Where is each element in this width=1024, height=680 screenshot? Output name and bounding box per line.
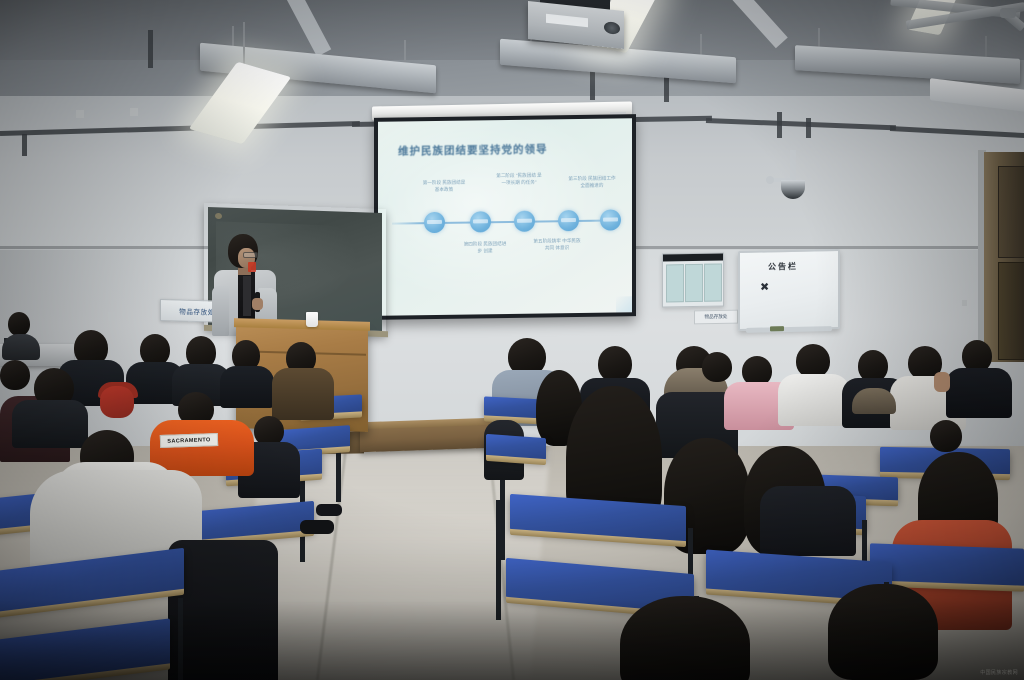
raised-hand (934, 372, 950, 392)
notice-panel (704, 263, 722, 301)
student-desk (870, 543, 1024, 586)
notice-caption-label: 物品存放处 (705, 314, 728, 320)
watermark: 中国民族宗教网 (980, 669, 1018, 676)
person-torso (220, 366, 274, 408)
person-torso (12, 400, 88, 448)
person-head (100, 386, 134, 418)
person-torso (946, 368, 1012, 418)
person-torso (778, 374, 850, 426)
slide-note: 第一阶段 民族团结是 基本政策 (422, 179, 466, 194)
jacket-text: SACRAMENTO (167, 437, 211, 445)
wall-outlet (108, 312, 115, 321)
camera-arm-knob (766, 176, 774, 184)
presenter-badge (248, 262, 256, 272)
slide-note: 第二阶段 "民族团结 是一项长期 的任务" (494, 171, 544, 186)
person-head (598, 346, 632, 382)
whiteboard-mark: ✖ (760, 280, 769, 293)
wall-outlet (76, 110, 84, 118)
ceiling-fan-hub (1000, 8, 1016, 18)
wall-outlet (962, 300, 967, 306)
person-head (8, 312, 30, 336)
whiteboard-title: 公告栏 (768, 261, 798, 273)
whiteboard-eraser[interactable] (770, 326, 784, 331)
person-head (702, 352, 732, 382)
presenter-arm-left (212, 286, 229, 336)
person-hair (828, 584, 938, 680)
notice-board (662, 252, 724, 307)
shoe (300, 520, 334, 534)
desk-leg (496, 500, 501, 620)
person-torso (2, 334, 40, 360)
person-torso (760, 486, 856, 556)
notice-board-caption: 物品存放处 (694, 310, 738, 325)
person-torso (168, 540, 278, 680)
person-head (796, 344, 830, 378)
desk-leg (178, 598, 183, 680)
slide-note: 第三阶段 民族团结工作 全面推进的 (568, 174, 616, 189)
door-panel[interactable] (998, 166, 1024, 258)
slide-title: 维护民族团结要坚持党的领导 (398, 141, 608, 159)
person-hair (620, 596, 750, 680)
jacket-text-patch: SACRAMENTO (160, 433, 218, 448)
person-head (0, 360, 30, 390)
sign-storage-label: 物品存放处 (179, 306, 215, 317)
door-panel[interactable] (998, 262, 1024, 360)
slide-note: 第五阶段铸牢 中华民族共同 体意识 (532, 237, 582, 252)
student-desk (486, 434, 546, 460)
conduit-drop (806, 118, 811, 138)
glasses-icon (243, 252, 258, 258)
wall-outlet (130, 108, 138, 116)
projection-screen: 维护民族团结要坚持党的领导 第一阶段 民族团结是 基本政策 第二阶段 "民族团结… (378, 118, 632, 316)
notice-board-header (663, 253, 723, 261)
conduit-drop (22, 134, 27, 156)
conduit-drop (777, 112, 782, 138)
shoe (316, 504, 342, 516)
fixture-rod (243, 22, 245, 68)
notice-panel (666, 264, 684, 302)
notice-panel (685, 264, 703, 302)
chalkboard-knob (215, 213, 222, 219)
conduit-drop (148, 30, 153, 68)
slide-note: 第四阶段 民族团结进步 创建 (462, 240, 508, 255)
screen-corner-highlight (616, 296, 632, 312)
presenter-hand (252, 298, 263, 310)
fur-hood (852, 388, 896, 414)
person-head (930, 420, 962, 452)
classroom-photo: 维护民族团结要坚持党的领导 第一阶段 民族团结是 基本政策 第二阶段 "民族团结… (0, 0, 1024, 680)
presenter-scarf (243, 276, 251, 316)
paper-cup-icon (306, 312, 318, 327)
whiteboard: 公告栏 ✖ (738, 249, 840, 331)
person-torso (272, 368, 334, 420)
